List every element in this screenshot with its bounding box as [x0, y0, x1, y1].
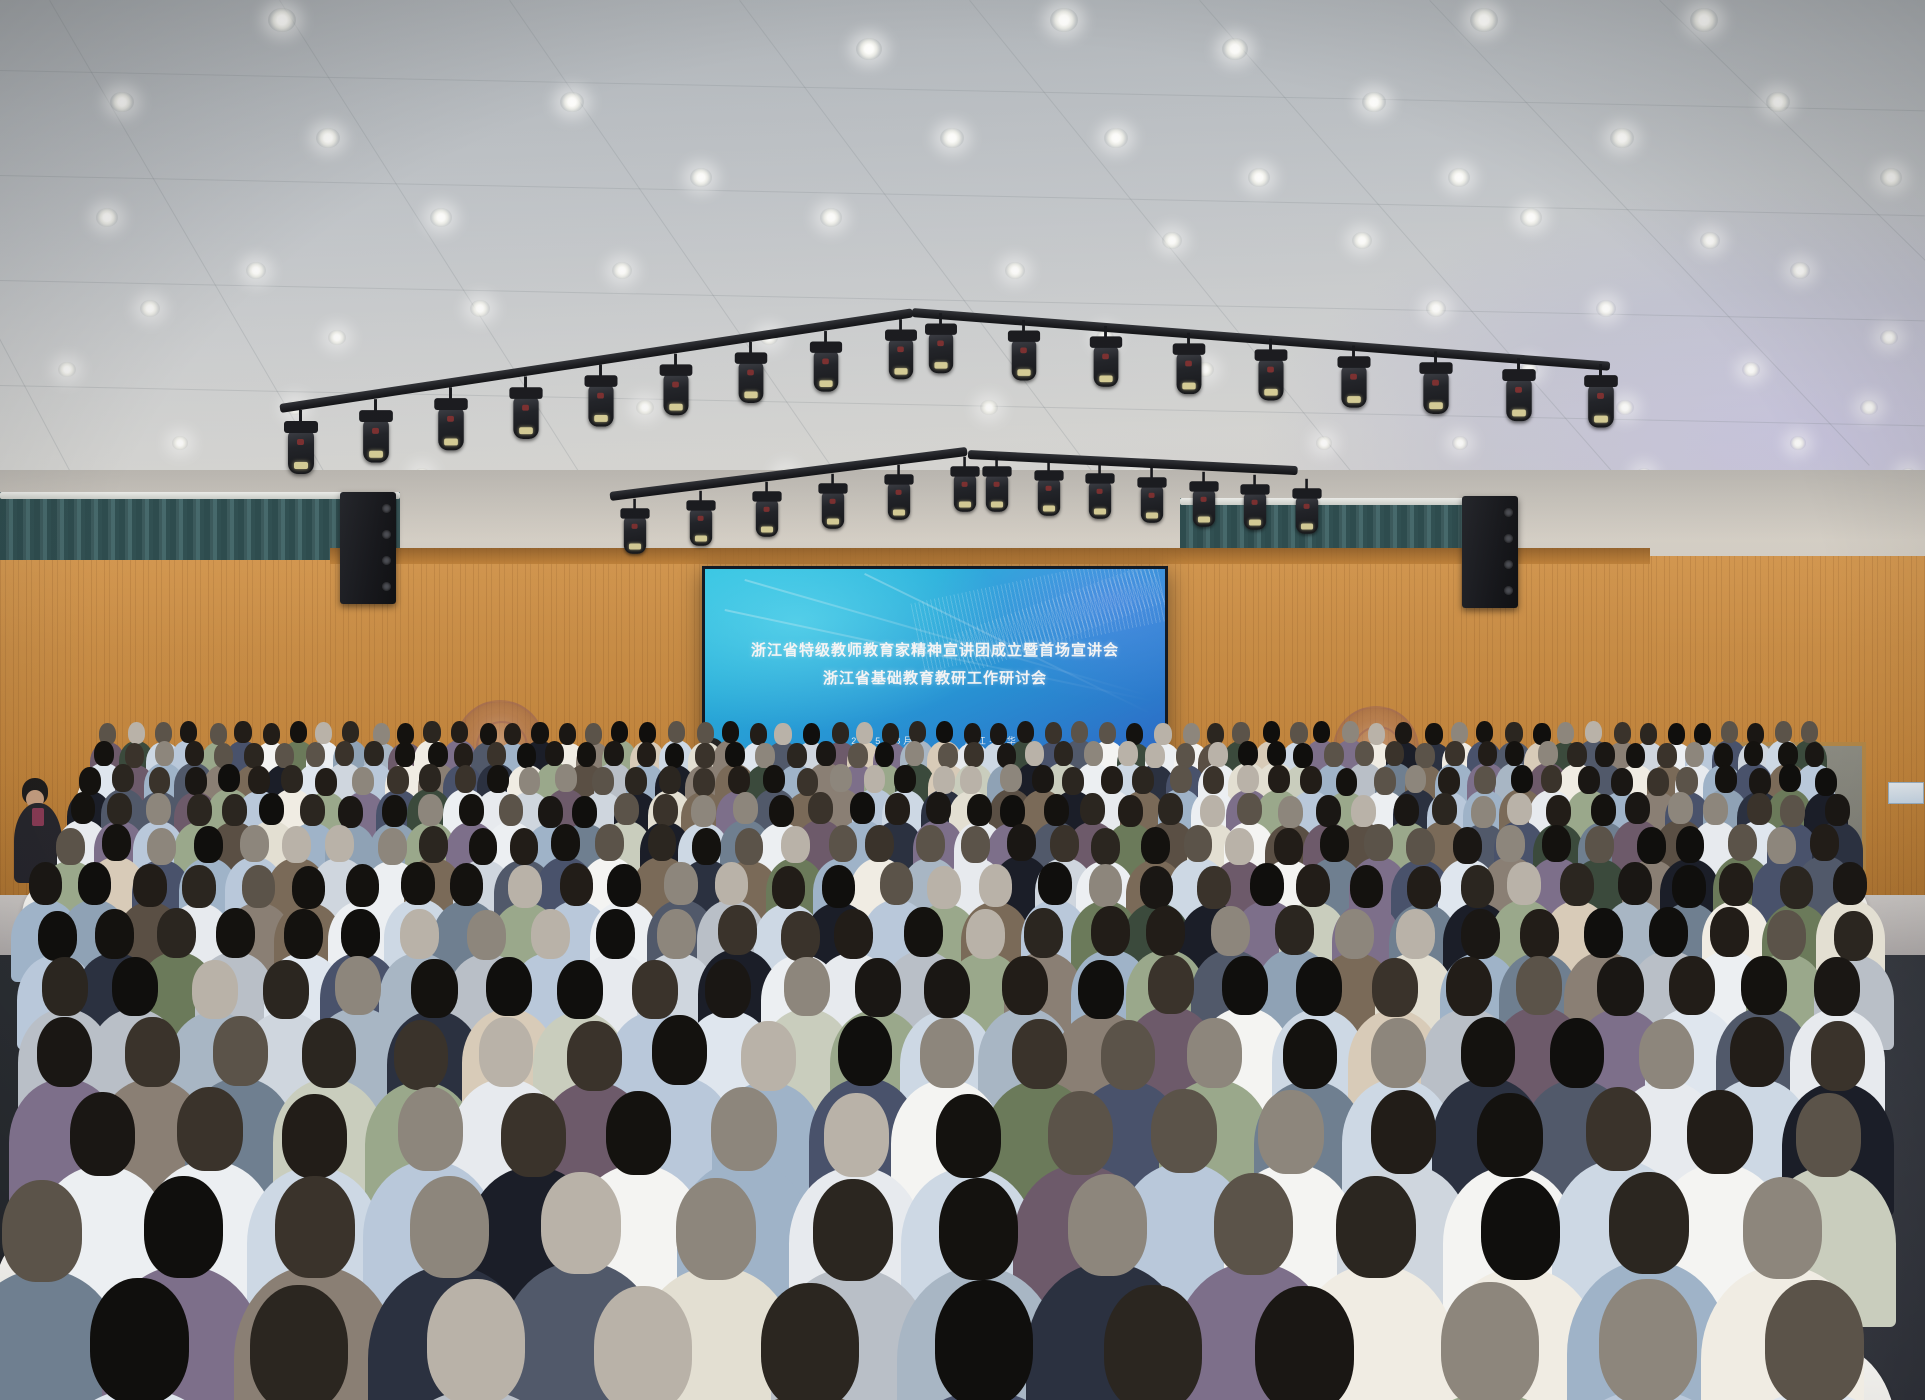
audience-head — [1025, 741, 1045, 766]
audience-head — [905, 741, 925, 766]
stage-spotlight-rear — [954, 474, 976, 512]
audience-head — [1078, 960, 1124, 1019]
audience-head — [90, 1278, 188, 1400]
audience-head — [1715, 765, 1737, 793]
stage-spotlight-rear — [1244, 492, 1266, 530]
audience-head — [1560, 863, 1594, 906]
audience-head — [577, 742, 597, 767]
audience-head — [1208, 742, 1228, 767]
audience-head — [909, 721, 926, 743]
audience-head — [1668, 792, 1693, 824]
ceiling-downlight — [1222, 38, 1248, 60]
audience-head — [300, 794, 325, 826]
audience-head — [718, 905, 757, 955]
audience-head — [607, 864, 641, 907]
audience-head — [733, 792, 758, 824]
audience-head — [1476, 721, 1493, 743]
audience-head — [664, 862, 698, 905]
audience-head — [1118, 795, 1143, 827]
audience-head — [1320, 825, 1349, 862]
audience-head — [1237, 793, 1262, 825]
audience-head — [346, 864, 380, 907]
screen-title-line-2: 浙江省基础教育教研工作研讨会 — [705, 667, 1165, 688]
audience-head — [659, 766, 681, 794]
audience-head — [531, 722, 548, 744]
audience-head — [37, 1017, 92, 1087]
audience-head — [813, 1179, 893, 1281]
audience-head — [1438, 767, 1460, 795]
audience-head — [822, 865, 856, 908]
audience-head — [1000, 795, 1025, 827]
audience-head — [1148, 955, 1194, 1014]
audience-head — [210, 723, 227, 745]
audience-head — [42, 957, 88, 1016]
audience-head — [1478, 741, 1498, 766]
audience-head — [769, 795, 794, 827]
audience-head — [1714, 743, 1734, 768]
audience-head — [904, 907, 943, 957]
audience-head — [401, 862, 435, 905]
audience-head — [510, 828, 539, 865]
stage-spotlight — [889, 338, 913, 379]
stage-spotlight — [1176, 352, 1201, 394]
audience-head — [960, 766, 982, 794]
audience-head — [1538, 741, 1558, 766]
audience-head — [1672, 865, 1706, 908]
audience-head — [936, 721, 953, 743]
audience-head — [1767, 910, 1806, 960]
audience-head — [94, 741, 114, 766]
audience-head — [180, 721, 197, 743]
audience-head — [1371, 1018, 1426, 1088]
audience-head — [1342, 721, 1359, 743]
audience-head — [1225, 828, 1254, 865]
wood-top-band — [330, 548, 1650, 564]
ceiling-downlight — [268, 8, 296, 32]
stage-spotlight-rear — [1141, 485, 1163, 523]
audience-head — [395, 742, 415, 767]
audience-head — [1520, 909, 1559, 959]
audience-head — [479, 1017, 534, 1087]
audience-head — [517, 743, 537, 768]
audience-head — [1496, 825, 1525, 862]
audience-head — [2, 1180, 82, 1282]
ceiling-downlight — [1700, 232, 1720, 249]
ceiling-downlight — [246, 262, 266, 279]
audience-head — [1703, 793, 1728, 825]
audience-head — [185, 767, 207, 795]
line-array-left — [340, 492, 396, 604]
audience-head — [1626, 743, 1646, 768]
audience-head — [1550, 1018, 1605, 1088]
audience-head — [1296, 864, 1330, 907]
audience-head — [567, 1021, 622, 1091]
audience-head — [1372, 958, 1418, 1017]
audience-head — [1511, 765, 1533, 793]
screen-title-line-1: 浙江省特级教师教育家精神宣讲团成立暨首场宣讲会 — [705, 639, 1165, 660]
audience-head — [1578, 766, 1600, 794]
ceiling-downlight — [1448, 168, 1470, 187]
audience-head — [1336, 1176, 1416, 1278]
audience-head — [1071, 721, 1088, 743]
audience-head — [1355, 741, 1375, 766]
audience-head — [1394, 794, 1419, 826]
audience-head — [625, 767, 647, 795]
audience-head — [559, 723, 576, 745]
audience-head — [378, 828, 407, 865]
audience-head — [926, 792, 951, 824]
audience-head — [1140, 866, 1174, 909]
audience-head — [1595, 742, 1615, 767]
audience-head — [1000, 764, 1022, 792]
audience-head — [693, 768, 715, 796]
audience-head — [1091, 906, 1130, 956]
audience-head — [387, 766, 409, 794]
audience-head — [936, 1094, 1002, 1178]
audience-head — [1805, 742, 1825, 767]
audience-head — [1625, 792, 1650, 824]
ceiling-downlight — [1790, 436, 1806, 450]
audience-head — [1132, 766, 1154, 794]
audience-head — [263, 960, 309, 1019]
line-array-right — [1462, 496, 1518, 608]
audience-head — [177, 1087, 243, 1171]
audience-head — [1415, 743, 1435, 768]
audience-head — [572, 796, 597, 828]
audience-head — [259, 793, 284, 825]
audience-head — [781, 911, 820, 961]
audience-head — [1585, 826, 1614, 863]
audience-head — [1747, 793, 1772, 825]
audience-head — [1203, 766, 1225, 794]
audience-head — [1461, 1017, 1516, 1087]
audience-head — [668, 721, 685, 743]
audience-head — [657, 909, 696, 959]
audience-head — [382, 795, 407, 827]
audience-head — [1481, 1178, 1561, 1280]
audience-head — [1810, 824, 1839, 861]
audience-head — [705, 959, 751, 1018]
stage-spotlight-rear — [986, 474, 1008, 512]
audience-head — [70, 1092, 136, 1176]
audience-head — [1618, 862, 1652, 905]
ceiling-downlight — [96, 208, 118, 227]
stage-spotlight-rear — [822, 491, 844, 529]
audience-head — [1609, 1172, 1689, 1274]
audience-head — [1268, 765, 1290, 793]
audience-head — [1775, 721, 1792, 743]
audience-head — [263, 723, 280, 745]
audience-head — [781, 826, 810, 863]
ceiling-downlight — [1426, 300, 1446, 317]
audience-head — [1640, 723, 1657, 745]
stage-spotlight-rear — [1296, 496, 1318, 534]
audience-head — [149, 767, 171, 795]
audience-head — [1184, 825, 1213, 862]
audience-head — [665, 743, 685, 768]
audience-head — [1780, 795, 1805, 827]
audience-head — [1062, 767, 1084, 795]
stage-spotlight — [438, 407, 464, 450]
audience-head — [1007, 824, 1036, 861]
audience-head — [1557, 722, 1574, 744]
audience-head — [394, 1020, 449, 1090]
audience-head — [242, 865, 276, 908]
audience-head — [290, 721, 307, 743]
audience-head — [1371, 1090, 1437, 1174]
stage-spotlight — [814, 350, 839, 392]
audience-head — [1779, 764, 1801, 792]
audience-head — [1507, 793, 1532, 825]
audience-head — [455, 765, 477, 793]
stage-spotlight — [663, 373, 688, 415]
audience-head — [218, 764, 240, 792]
right-blind-rail — [1180, 498, 1480, 505]
audience-head — [1453, 827, 1482, 864]
audience-head — [1255, 1286, 1353, 1400]
audience-head — [352, 767, 374, 795]
audience-head — [939, 1178, 1019, 1280]
audience-head — [1815, 768, 1837, 796]
audience-head — [865, 825, 894, 862]
audience-head — [594, 1286, 692, 1400]
audience-head — [1676, 767, 1698, 795]
audience-head — [924, 959, 970, 1018]
audience-head — [1741, 956, 1787, 1015]
audience-head — [797, 768, 819, 796]
audience-head — [302, 1018, 357, 1088]
audience-head — [1474, 766, 1496, 794]
audience-head — [427, 1279, 525, 1400]
audience-head — [1290, 722, 1307, 744]
audience-head — [1647, 768, 1669, 796]
audience-head — [1101, 1020, 1156, 1090]
audience-head — [1396, 909, 1435, 959]
audience-head — [364, 741, 384, 766]
audience-head — [1685, 742, 1705, 767]
audience-head — [964, 742, 984, 767]
audience-head — [1374, 767, 1396, 795]
audience-head — [1657, 743, 1677, 768]
audience-head — [1778, 742, 1798, 767]
audience-head — [78, 862, 112, 905]
ceiling-downlight — [140, 300, 160, 317]
conference-hall-photo: 浙江省特级教师教育家精神宣讲团成立暨首场宣讲会 浙江省基础教育教研工作研讨会 2… — [0, 0, 1925, 1400]
audience-head — [722, 721, 739, 743]
ceiling-downlight — [820, 208, 842, 227]
audience-head — [1012, 1019, 1067, 1089]
audience-head — [1833, 862, 1867, 905]
audience-head — [648, 824, 677, 861]
audience-head — [1250, 863, 1284, 906]
audience-head — [1351, 795, 1376, 827]
audience-head — [545, 741, 565, 766]
audience-head — [282, 1094, 348, 1178]
audience-head — [284, 909, 323, 959]
audience-head — [1471, 796, 1496, 828]
audience-head — [1687, 1090, 1753, 1174]
stage-spotlight-rear — [1089, 481, 1111, 519]
audience-head — [834, 909, 873, 959]
audience-head — [864, 765, 886, 793]
audience-head — [856, 722, 873, 744]
audience-head — [29, 862, 63, 905]
audience-head — [1222, 956, 1268, 1015]
audience-head — [1586, 1087, 1652, 1171]
audience-head — [282, 826, 311, 863]
audience-head — [325, 825, 354, 862]
audience-head — [1214, 1173, 1294, 1275]
ceiling-downlight — [1470, 8, 1498, 32]
audience-head — [1744, 741, 1764, 766]
audience-head — [596, 909, 635, 959]
audience-head — [1614, 722, 1631, 744]
audience-head — [1263, 721, 1280, 743]
ceiling-downlight — [1880, 168, 1902, 187]
audience-head — [1639, 1019, 1694, 1089]
audience-head — [1002, 956, 1048, 1015]
audience-head — [1068, 1174, 1148, 1276]
audience-head — [450, 863, 484, 906]
audience-head — [504, 723, 521, 745]
audience-head — [469, 828, 498, 865]
audience-head — [1324, 742, 1344, 767]
audience-head — [1296, 957, 1342, 1016]
audience-head — [938, 743, 958, 768]
audience-head — [855, 958, 901, 1017]
audience-head — [144, 1176, 224, 1278]
audience-head — [1743, 1177, 1823, 1279]
audience-head — [935, 1280, 1033, 1400]
audience-head — [966, 909, 1005, 959]
audience-head — [1611, 768, 1633, 796]
audience-head — [916, 825, 945, 862]
audience-head — [611, 721, 628, 743]
ceiling-downlight — [1352, 232, 1372, 249]
audience-head — [1258, 1090, 1324, 1174]
audience-head — [595, 824, 624, 861]
audience-head — [1765, 1280, 1863, 1400]
audience-head — [1710, 907, 1749, 957]
audience-head — [1730, 1017, 1785, 1087]
audience-head — [639, 722, 656, 744]
ceiling-downlight — [612, 262, 632, 279]
audience-head — [637, 742, 657, 767]
audience-head — [604, 741, 624, 766]
audience-head — [306, 742, 326, 767]
audience-head — [1335, 909, 1374, 959]
audience-head — [1146, 906, 1185, 956]
ceiling-downlight — [1790, 262, 1810, 279]
audience-head — [850, 792, 875, 824]
stage-spotlight-rear — [624, 516, 646, 554]
stage-spotlight-rear — [888, 482, 910, 520]
audience-head — [418, 794, 443, 826]
audience-head — [501, 1093, 567, 1177]
audience-head — [695, 743, 715, 768]
audience-head — [79, 767, 101, 795]
ceiling-downlight — [172, 436, 188, 450]
audience-head — [192, 960, 238, 1019]
audience-head — [1441, 1282, 1539, 1400]
audience-head — [1368, 723, 1385, 745]
audience-head — [1591, 794, 1616, 826]
ceiling-downlight — [1005, 262, 1025, 279]
stage-spotlight-rear — [756, 499, 778, 537]
audience-head — [213, 1016, 268, 1086]
audience-head — [1118, 741, 1138, 766]
audience-head — [1278, 796, 1303, 828]
audience-head — [1200, 795, 1225, 827]
audience-head — [335, 956, 381, 1015]
audience-head — [112, 957, 158, 1016]
audience-head — [1507, 862, 1541, 905]
audience-head — [531, 909, 570, 959]
audience-head — [1445, 741, 1465, 766]
audience-head — [735, 828, 764, 865]
audience-head — [803, 723, 820, 745]
audience-head — [1721, 721, 1738, 743]
audience-head — [774, 723, 791, 745]
audience-head — [761, 1283, 859, 1400]
audience-head — [1796, 1093, 1862, 1177]
audience-head — [676, 1178, 756, 1280]
audience-head — [829, 825, 858, 862]
audience-head — [1541, 765, 1563, 793]
audience-head — [830, 764, 852, 792]
stage-spotlight — [1588, 384, 1614, 428]
audience-head — [1293, 743, 1313, 768]
audience-head — [1211, 906, 1250, 956]
audience-head — [979, 864, 1013, 907]
audience-head — [419, 826, 448, 863]
audience-head — [1091, 828, 1120, 865]
audience-head — [157, 908, 196, 958]
audience-head — [1141, 827, 1170, 864]
audience-head — [1101, 766, 1123, 794]
audience-head — [551, 824, 580, 861]
audience-head — [112, 764, 134, 792]
audience-head — [1238, 741, 1258, 766]
audience-head — [1316, 795, 1341, 827]
audience-head — [1567, 742, 1587, 767]
audience-head — [1050, 825, 1079, 862]
audience-head — [147, 828, 176, 865]
audience-head — [894, 765, 916, 793]
audience-head — [56, 828, 85, 865]
audience-head — [880, 862, 914, 905]
ceiling-downlight — [1520, 208, 1542, 227]
audience-head — [1676, 826, 1705, 863]
audience-head — [1145, 743, 1165, 768]
audience-head — [519, 767, 541, 795]
audience-head — [1584, 908, 1623, 958]
audience-head — [541, 1172, 621, 1274]
audience-head — [632, 960, 678, 1019]
audience-head — [824, 1093, 890, 1177]
audience-head — [38, 911, 77, 961]
stage-spotlight — [1011, 339, 1036, 381]
audience-head — [848, 743, 868, 768]
audience-head — [410, 1176, 490, 1278]
audience-head — [1780, 866, 1814, 909]
audience-head — [927, 866, 961, 909]
audience-head — [508, 865, 542, 908]
stage-spotlight — [513, 396, 538, 439]
audience-head — [1811, 1021, 1866, 1091]
audience-head — [71, 792, 96, 824]
audience-head — [487, 765, 509, 793]
